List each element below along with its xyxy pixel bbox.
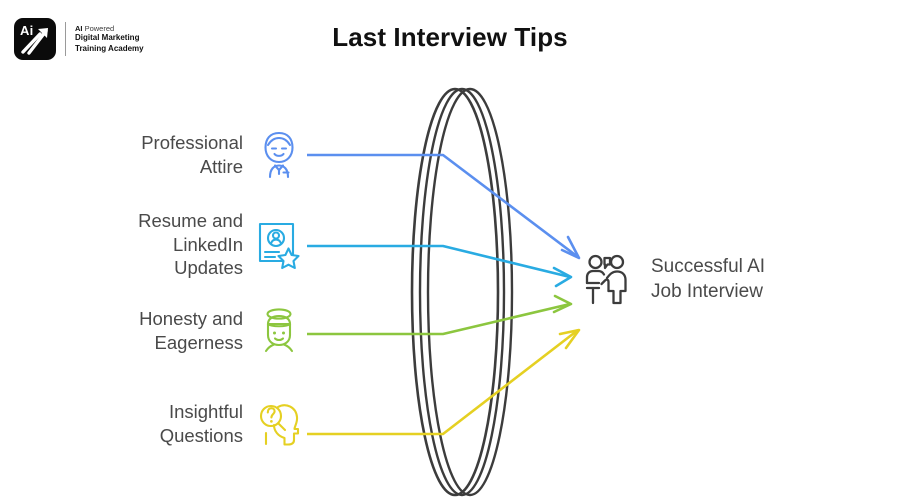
tip-item-resume-linkedin[interactable]: Resume and LinkedIn Updates <box>80 209 305 280</box>
tip-label: Insightful Questions <box>160 400 243 447</box>
angel-face-halo-icon <box>253 305 305 357</box>
tip-label: Resume and LinkedIn Updates <box>138 209 243 280</box>
tip-item-insightful-questions[interactable]: Insightful Questions <box>80 398 305 450</box>
result-successful-interview[interactable]: Successful AI Job Interview <box>583 252 765 308</box>
tip-label: Professional Attire <box>141 131 243 178</box>
head-question-magnifier-icon <box>253 398 305 450</box>
resume-card-star-icon <box>253 219 305 271</box>
tip-label: Honesty and Eagerness <box>139 307 243 354</box>
result-label: Successful AI Job Interview <box>651 255 765 304</box>
tip-item-professional-attire[interactable]: Professional Attire <box>80 129 305 181</box>
tip-item-honesty-eagerness[interactable]: Honesty and Eagerness <box>80 305 305 357</box>
infographic-canvas: Ai AI Powered Digital Marketing Training… <box>0 0 900 500</box>
job-interview-icon <box>583 252 639 308</box>
person-in-suit-icon <box>253 129 305 181</box>
